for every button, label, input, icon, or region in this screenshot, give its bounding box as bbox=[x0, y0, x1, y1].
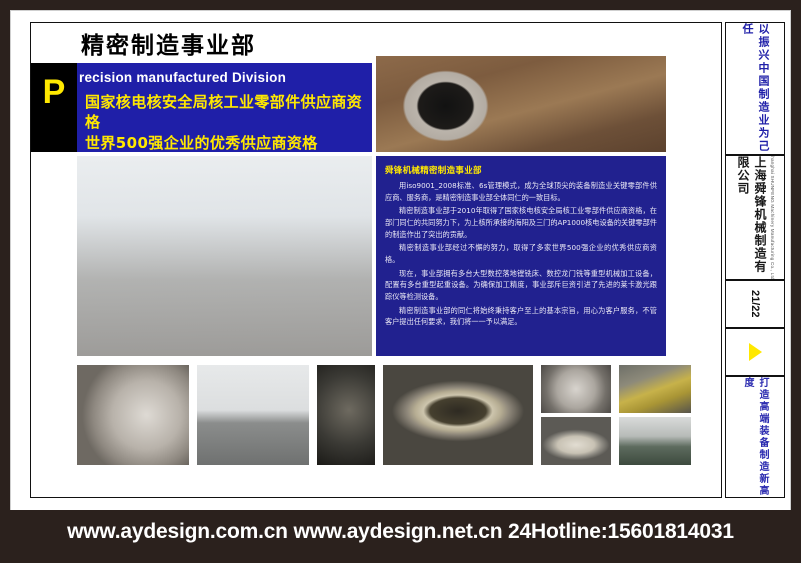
photo-fill bbox=[619, 417, 691, 465]
rail-slogan-bottom: 打造高端装备制造新高度 bbox=[725, 376, 785, 498]
rail-slogan-bottom-text: 打造高端装备制造新高度 bbox=[740, 377, 770, 497]
page-title: 精密制造事业部 bbox=[81, 26, 256, 60]
thumbnail-assembled-machine bbox=[619, 417, 691, 465]
thumbnail-yellow-base bbox=[619, 365, 691, 413]
photo-fill bbox=[541, 417, 611, 465]
rail-company-name: 上海舜锋机械制造有限公司 Shanghai SHUNFENG Machinery… bbox=[725, 155, 785, 280]
rail-slogan-top: 以振兴中国制造业为己任 bbox=[725, 22, 785, 155]
thumbnail-flange-housing bbox=[541, 365, 611, 413]
description-paragraph: 用iso9001_2008标准、6s管理模式，成为全球顶尖的装备制造业关键零部件… bbox=[385, 180, 657, 203]
headline-chinese-line2: 世界500强企业的优秀供应商资格 bbox=[85, 133, 372, 153]
photo-workers-inspecting-vessel bbox=[77, 156, 372, 356]
bottom-banner: www.aydesign.com.cn www.aydesign.net.cn … bbox=[10, 510, 791, 553]
photo-fill bbox=[197, 365, 309, 465]
triangle-right-icon[interactable] bbox=[749, 343, 762, 361]
rail-company-name-cn: 上海舜锋机械制造有限公司 bbox=[735, 156, 769, 279]
photo-fill bbox=[376, 56, 666, 152]
photo-fill bbox=[317, 365, 375, 465]
rail-company-name-en: Shanghai SHUNFENG Machinery Manufacturin… bbox=[770, 155, 775, 280]
rail-slogan-top-text: 以振兴中国制造业为己任 bbox=[739, 23, 771, 154]
description-paragraph: 精密制造事业部于2010年取得了国家核电核安全局核工业零部件供应商资格，在部门同… bbox=[385, 205, 657, 240]
thumbnail-workshop-plate bbox=[197, 365, 309, 465]
thumbnail-dark-machining bbox=[317, 365, 375, 465]
page-number-text: 21/22 bbox=[749, 290, 761, 318]
rail-page-number: 21/22 bbox=[725, 280, 785, 328]
photo-fill bbox=[541, 365, 611, 413]
content-sheet: 精密制造事业部 P recision manufactured Division… bbox=[30, 22, 722, 498]
description-title: 舜锋机械精密制造事业部 bbox=[385, 164, 657, 176]
photo-fill bbox=[77, 156, 372, 356]
headline-english: recision manufactured Division bbox=[79, 70, 372, 85]
description-paragraph: 现在，事业部拥有多台大型数控落地镗铣床、数控龙门铣等重型机械加工设备，配置有多台… bbox=[385, 268, 657, 303]
thumbnail-large-ring bbox=[383, 365, 533, 465]
photo-steel-pipe-vessel bbox=[376, 56, 666, 152]
logo-block: P bbox=[31, 63, 77, 152]
thumbnail-tube-sheet bbox=[77, 365, 189, 465]
banner-contact-text: www.aydesign.com.cn www.aydesign.net.cn … bbox=[67, 520, 734, 544]
headline-chinese-line1: 国家核电核安全局核工业零部件供应商资格 bbox=[85, 92, 372, 133]
headline-panel: recision manufactured Division 国家核电核安全局核… bbox=[77, 63, 372, 152]
description-paragraph: 精密制造事业部的同仁将始终秉持客户至上的基本宗旨，用心为客户服务，不管客户提出任… bbox=[385, 305, 657, 328]
thumbnail-polished-disc bbox=[541, 417, 611, 465]
photo-fill bbox=[77, 365, 189, 465]
logo-letter-p: P bbox=[43, 75, 66, 109]
photo-fill bbox=[383, 365, 533, 465]
photo-fill bbox=[619, 365, 691, 413]
rail-arrow[interactable] bbox=[725, 328, 785, 376]
thumbnail-strip bbox=[77, 365, 666, 465]
description-panel: 舜锋机械精密制造事业部 用iso9001_2008标准、6s管理模式，成为全球顶… bbox=[376, 156, 666, 356]
brochure-page: 精密制造事业部 P recision manufactured Division… bbox=[0, 0, 801, 563]
description-paragraph: 精密制造事业部经过不懈的努力，取得了多家世界500强企业的优秀供应商资格。 bbox=[385, 242, 657, 265]
